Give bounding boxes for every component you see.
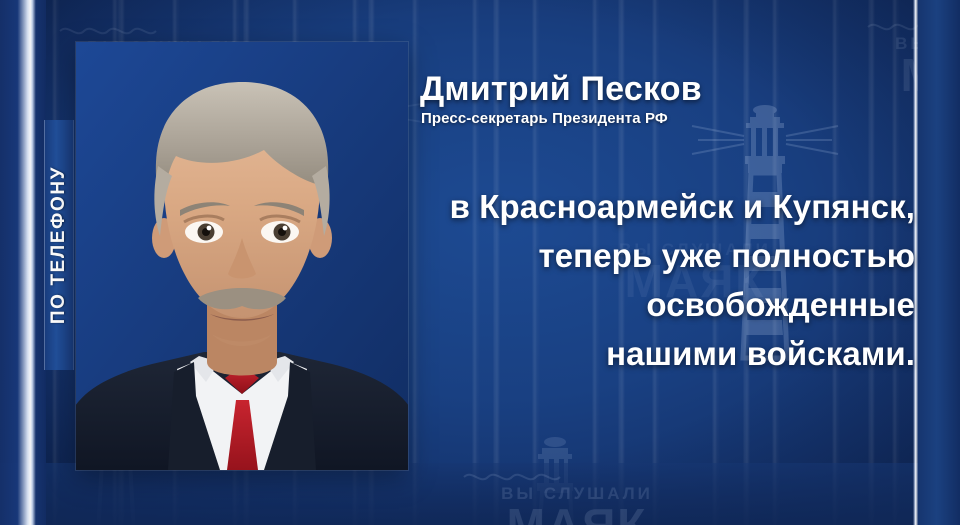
speaker-photo — [76, 42, 408, 470]
phone-connection-tab: ПО ТЕЛЕФОНУ — [44, 120, 74, 370]
quote-text: в Красноармейск и Купянск, теперь уже по… — [395, 182, 915, 378]
quote-line: нашими войсками. — [395, 329, 915, 378]
speaker-portrait-card: ВЫ СЛУШАЛИ МАЯК — [76, 42, 408, 470]
quote-line: освобожденные — [395, 280, 915, 329]
phone-tab-label: ПО ТЕЛЕФОНУ — [48, 166, 70, 324]
bottom-band — [0, 463, 960, 525]
left-edge-highlight — [0, 0, 46, 525]
speaker-role: Пресс-секретарь Президента РФ — [421, 110, 668, 127]
speaker-name: Дмитрий Песков — [420, 70, 702, 109]
broadcast-lower-third: ВЫ СЛУШАЛИ МАЯК ВЫ СЛУШАЛИ МАЯК ВЫ СЛУША… — [0, 0, 960, 525]
right-side-band — [918, 0, 960, 525]
quote-line: в Красноармейск и Купянск, — [395, 182, 915, 231]
quote-line: теперь уже полностью — [395, 231, 915, 280]
